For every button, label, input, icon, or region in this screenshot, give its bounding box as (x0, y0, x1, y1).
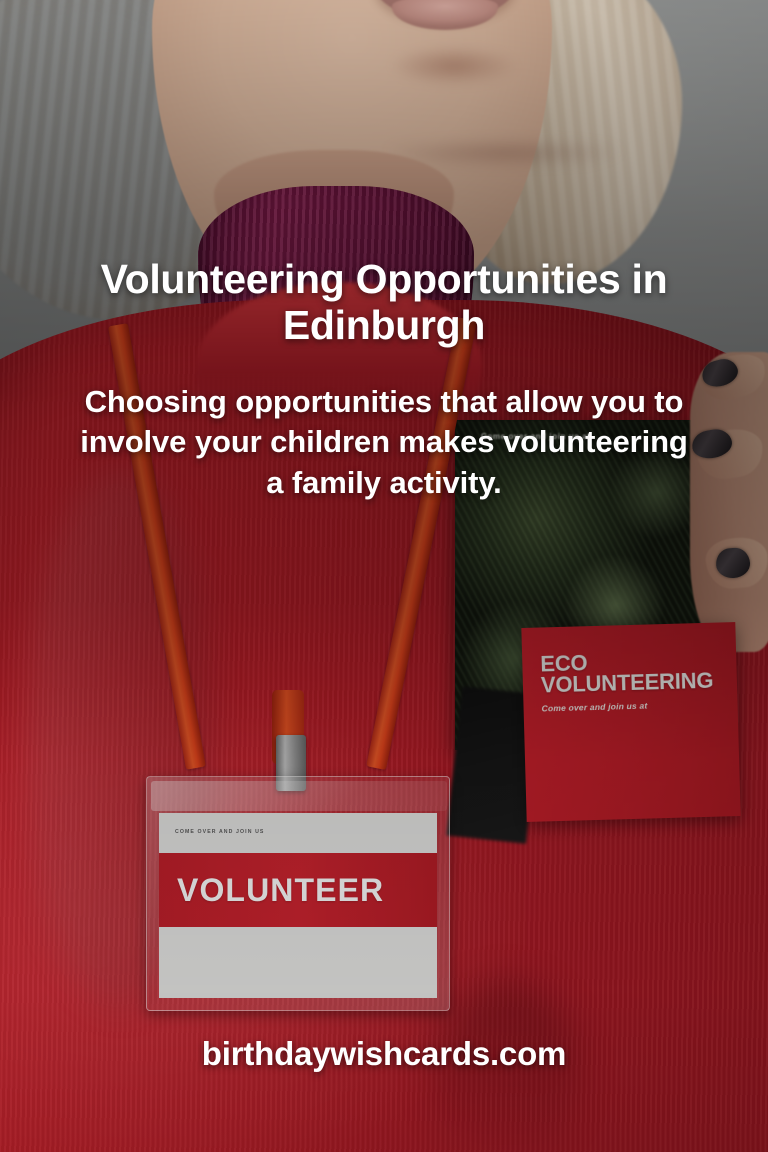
text-overlay: Volunteering Opportunities in Edinburgh … (0, 0, 768, 1152)
pin-subtitle: Choosing opportunities that allow you to… (78, 382, 690, 503)
pin-title: Volunteering Opportunities in Edinburgh (28, 256, 740, 349)
website-url: birthdaywishcards.com (0, 1035, 768, 1073)
leaf-card-caption: Come over and join us at (481, 432, 591, 441)
pinterest-pin-graphic: Come over and join us at ECO VOLUNTEERIN… (0, 0, 768, 1152)
